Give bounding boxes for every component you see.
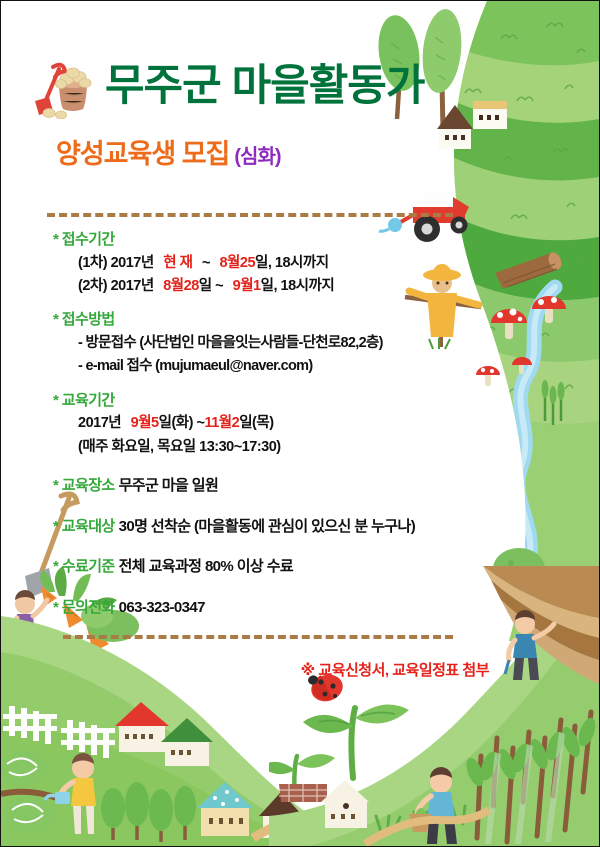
section-contact-phone: * 문의전화063-323-0347 [53, 597, 513, 620]
education-target-label-text: * 교육대상 [53, 518, 115, 535]
house-yellow [473, 101, 507, 129]
application-period-line2: (2차) 2017년 8월28일 ~ 9월1일, 18시까지 [53, 275, 513, 298]
farmer-with-basket [409, 767, 457, 844]
ap-l2-hl4: 1 [253, 278, 261, 294]
page-subtitle: 양성교육생 모집 [56, 139, 229, 169]
stream [518, 287, 555, 641]
child-purple [11, 590, 47, 666]
ap-l2-hl3: 9월 [233, 278, 253, 294]
child-yellow [45, 753, 96, 834]
attachment-note: ※ 교육신청서, 교육일정표 첨부 [301, 659, 489, 680]
ep-l1-prefix: 2017년 [78, 415, 121, 431]
grass-tufts [376, 806, 465, 834]
ep-l1-hl3: 11월 [204, 415, 231, 431]
education-place-value: 무주군 마을 일원 [119, 477, 219, 494]
divider-top [47, 213, 453, 217]
fence [3, 706, 115, 758]
house-blue-roof [197, 782, 253, 836]
ep-l1-hl2: 5 [151, 415, 159, 431]
label-education-target: * 교육대상30명 선착순 (마을활동에 관심이 있으신 분 누구나) [53, 516, 513, 539]
page-title: 무주군 마을활동가 [105, 65, 424, 108]
page-subtitle-paren: (심화) [234, 146, 280, 168]
house-darkbrown-roof [259, 792, 303, 838]
house-brick [279, 780, 369, 828]
label-application-method: * 접수방법 [53, 309, 513, 332]
ap-l2-mid1: 일 ~ [199, 278, 223, 294]
education-target-value: 30명 선착순 (마을활동에 관심이 있으신 분 누구나) [119, 518, 415, 535]
contact-phone-value: 063-323-0347 [119, 599, 205, 616]
divider-bottom [63, 635, 453, 639]
ap-l1-suffix: 일, 18시까지 [255, 255, 329, 271]
ap-l2-hl2: 28 [184, 278, 199, 294]
ap-l1-mid: ~ [202, 255, 210, 271]
subtitle-row: 양성교육생 모집(심화) [1, 132, 471, 171]
shrub-row [101, 782, 196, 842]
ep-l1-suffix: 일(목) [239, 415, 273, 431]
completion-criteria-label-text: * 수료기준 [53, 558, 115, 575]
ap-l2-suffix: 일, 18시까지 [261, 278, 335, 294]
education-period-line2: (매주 화요일, 목요일 13:30~17:30) [53, 436, 513, 459]
application-method-line2: - e-mail 접수 (mujumaeul@naver.com) [53, 355, 513, 378]
section-completion-criteria: * 수료기준전체 교육과정 80% 이상 수료 [53, 556, 513, 579]
ap-l1-hl2: 8월 [219, 255, 239, 271]
poster-header: 무주군 마을활동가 양성교육생 모집(심화) [1, 53, 471, 171]
ap-l2-prefix: (2차) 2017년 [78, 278, 154, 294]
application-method-line1: - 방문접수 (사단법인 마을을잇는사람들-단천로82,2층) [53, 332, 513, 355]
ep-l1-hl1: 9월 [131, 415, 151, 431]
section-application-period: * 접수기간 (1차) 2017년 현 재 ~ 8월25일, 18시까지 (2차… [53, 229, 513, 298]
label-education-period: * 교육기간 [53, 390, 513, 413]
sprout-large [303, 705, 409, 778]
education-place-label-text: * 교육장소 [53, 477, 115, 494]
label-application-period: * 접수기간 [53, 229, 513, 252]
section-education-period: * 교육기간 2017년 9월5일(화) ~11월2일(목) (매주 화요일, … [53, 390, 513, 459]
ap-l2-hl1: 8월 [163, 278, 183, 294]
section-education-target: * 교육대상30명 선착순 (마을활동에 관심이 있으신 분 누구나) [53, 516, 513, 539]
ep-l1-mid: 일(화) ~ [159, 415, 205, 431]
poster-canvas: 무주군 마을활동가 양성교육생 모집(심화) * 접수기간 (1차) 2017년… [0, 0, 600, 847]
label-education-place: * 교육장소무주군 마을 일원 [53, 475, 513, 498]
cabbages [1, 751, 57, 832]
label-contact-phone: * 문의전화063-323-0347 [53, 597, 513, 620]
crop-rows [463, 712, 599, 844]
section-education-place: * 교육장소무주군 마을 일원 [53, 475, 513, 498]
house-red-roof [115, 702, 169, 752]
title-row: 무주군 마을활동가 [1, 53, 471, 119]
poster-body: * 접수기간 (1차) 2017년 현 재 ~ 8월25일, 18시까지 (2차… [53, 229, 513, 619]
sprout-small [269, 754, 335, 800]
label-completion-criteria: * 수료기준전체 교육과정 80% 이상 수료 [53, 556, 513, 579]
ap-l1-hl3: 25 [240, 255, 255, 271]
ap-l1-prefix: (1차) 2017년 [78, 255, 154, 271]
shovel-potato-basket-icon [29, 53, 101, 119]
education-period-line1: 2017년 9월5일(화) ~11월2일(목) [53, 412, 513, 435]
house-green-roof [161, 718, 213, 766]
application-period-line1: (1차) 2017년 현 재 ~ 8월25일, 18시까지 [53, 252, 513, 275]
section-application-method: * 접수방법 - 방문접수 (사단법인 마을을잇는사람들-단천로82,2층) -… [53, 309, 513, 378]
mushroom-tiny [512, 357, 532, 374]
farmer-upper [505, 610, 554, 680]
completion-criteria-value: 전체 교육과정 80% 이상 수료 [119, 558, 294, 575]
reeds [545, 393, 561, 425]
ap-l1-hl1: 현 재 [163, 255, 192, 271]
mushroom-right [532, 296, 566, 323]
contact-phone-label-text: * 문의전화 [53, 599, 115, 616]
